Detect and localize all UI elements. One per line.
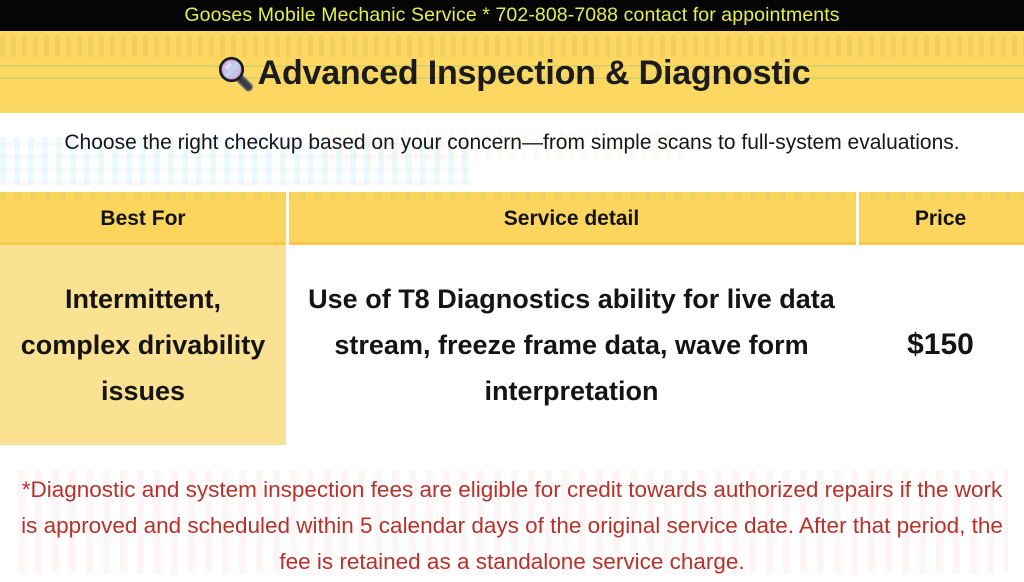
pricing-table: Best For Service detail Price Intermitte… [0, 192, 1024, 445]
footnote-text: *Diagnostic and system inspection fees a… [0, 462, 1024, 580]
column-header-price: Price [857, 192, 1024, 245]
title-row: Advanced Inspection & Diagnostic [214, 52, 811, 94]
table-header-row: Best For Service detail Price [0, 192, 1024, 245]
subtitle-text: Choose the right checkup based on your c… [0, 113, 1024, 158]
page-title: Advanced Inspection & Diagnostic [258, 54, 811, 93]
column-header-service-detail: Service detail [286, 192, 857, 245]
magnifying-glass-icon [214, 52, 256, 94]
title-band: Advanced Inspection & Diagnostic [0, 31, 1024, 113]
contact-banner-text: Gooses Mobile Mechanic Service * 702-808… [184, 4, 839, 27]
cell-price: $150 [857, 245, 1024, 445]
contact-banner: Gooses Mobile Mechanic Service * 702-808… [0, 0, 1024, 31]
column-divider-1 [286, 192, 289, 245]
subtitle-area: Choose the right checkup based on your c… [0, 113, 1024, 192]
column-divider-2 [856, 192, 859, 245]
column-header-best-for: Best For [0, 192, 286, 245]
cell-best-for: Intermittent, complex drivability issues [0, 245, 286, 445]
table-row: Intermittent, complex drivability issues… [0, 245, 1024, 445]
promo-slide: Gooses Mobile Mechanic Service * 702-808… [0, 0, 1024, 582]
cell-service-detail: Use of T8 Diagnostics ability for live d… [286, 245, 857, 445]
footnote-area: *Diagnostic and system inspection fees a… [0, 462, 1024, 582]
